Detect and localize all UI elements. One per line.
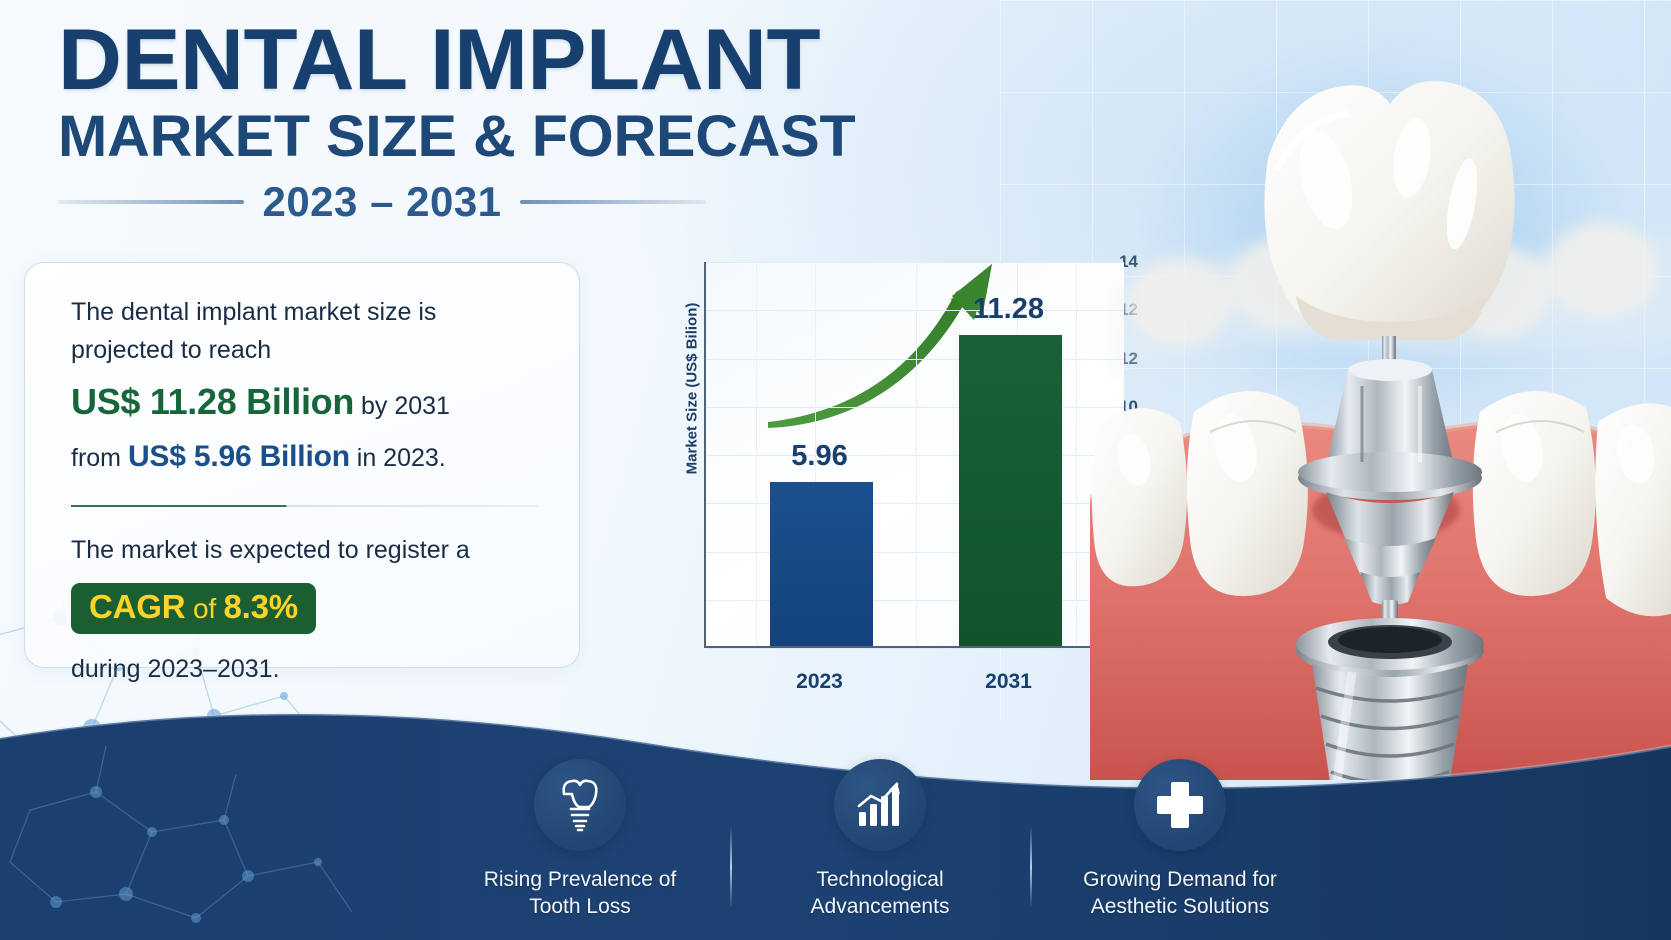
chart-gridline [706, 310, 1124, 311]
card-value-2031-row: US$ 11.28 Billion by 2031 [71, 375, 541, 430]
market-size-bar-chart: Market Size (US$ Bilion) 0246810121214 5… [618, 248, 1138, 688]
feature-label-line1: Growing Demand for [1083, 868, 1277, 891]
chart-gridline [706, 648, 1124, 649]
card-divider [71, 505, 539, 507]
title-rule: 2023 – 2031 [58, 178, 706, 226]
feature-label: Technological Advancements [730, 867, 1030, 920]
chart-gridline-vertical [1076, 262, 1077, 646]
growth-chart-icon [853, 778, 907, 832]
value-2031: US$ 11.28 Billion [71, 381, 354, 422]
feature-highlights: Rising Prevalence of Tooth Loss [430, 710, 1330, 940]
chart-gridline [706, 262, 1124, 263]
cagr-intro: The market is expected to register a [71, 531, 541, 569]
feature-label: Growing Demand for Aesthetic Solutions [1030, 867, 1330, 920]
chart-y-axis-title: Market Size (US$ Bilion) [683, 303, 700, 475]
feature-label-line2: Advancements [811, 895, 950, 918]
cagr-value: 8.3% [224, 588, 298, 625]
implant-crown [1264, 81, 1514, 340]
chart-bar-value-label: 11.28 [973, 293, 1044, 326]
chart-bar [959, 335, 1062, 646]
feature-icon-circle [534, 759, 626, 851]
page-title: DENTAL IMPLANT [58, 18, 1026, 102]
cagr-of: of [185, 593, 223, 624]
card-lead: The dental implant market size is projec… [71, 293, 541, 369]
page-subtitle: MARKET SIZE & FORECAST [58, 106, 1017, 167]
feature-icon-circle [834, 759, 926, 851]
summary-card: The dental implant market size is projec… [24, 262, 580, 668]
chart-gridline-vertical [916, 262, 917, 646]
infographic-canvas: DENTAL IMPLANT MARKET SIZE & FORECAST 20… [0, 0, 1671, 940]
cagr-label: CAGR [89, 588, 185, 625]
rule-right [520, 200, 706, 204]
feature-item-aesthetics[interactable]: Growing Demand for Aesthetic Solutions [1030, 759, 1330, 940]
dental-implant-illustration [1090, 40, 1671, 780]
chart-plot-area [704, 262, 1124, 648]
feature-icon-circle [1134, 759, 1226, 851]
cagr-badge-wrap: CAGR of 8.3% [71, 583, 541, 634]
feature-item-technology[interactable]: Technological Advancements [730, 759, 1030, 940]
by-year: by 2031 [354, 392, 450, 420]
feature-label-line2: Aesthetic Solutions [1091, 895, 1270, 918]
chart-gridline-vertical [756, 262, 757, 646]
value-2023: US$ 5.96 Billion [128, 440, 350, 473]
feature-label-line1: Technological [816, 868, 943, 891]
feature-item-tooth-loss[interactable]: Rising Prevalence of Tooth Loss [430, 759, 730, 940]
dental-implant-icon [554, 776, 606, 834]
from-prefix: from [71, 444, 128, 472]
feature-label-line1: Rising Prevalence of [484, 868, 677, 891]
title-year-range: 2023 – 2031 [244, 178, 519, 226]
cagr-badge: CAGR of 8.3% [71, 583, 316, 634]
feature-label: Rising Prevalence of Tooth Loss [430, 867, 730, 920]
feature-label-line2: Tooth Loss [529, 895, 631, 918]
in-year: in 2023. [350, 444, 446, 472]
card-lead-line2: projected to reach [71, 336, 271, 364]
chart-bar [770, 482, 873, 646]
medical-cross-icon [1155, 780, 1205, 830]
header: DENTAL IMPLANT MARKET SIZE & FORECAST 20… [58, 18, 998, 226]
chart-bar-value-label: 5.96 [791, 440, 847, 473]
rule-left [58, 200, 244, 204]
card-lead-line1: The dental implant market size is [71, 298, 436, 326]
card-value-2023-row: from US$ 5.96 Billion in 2023. [71, 434, 541, 480]
